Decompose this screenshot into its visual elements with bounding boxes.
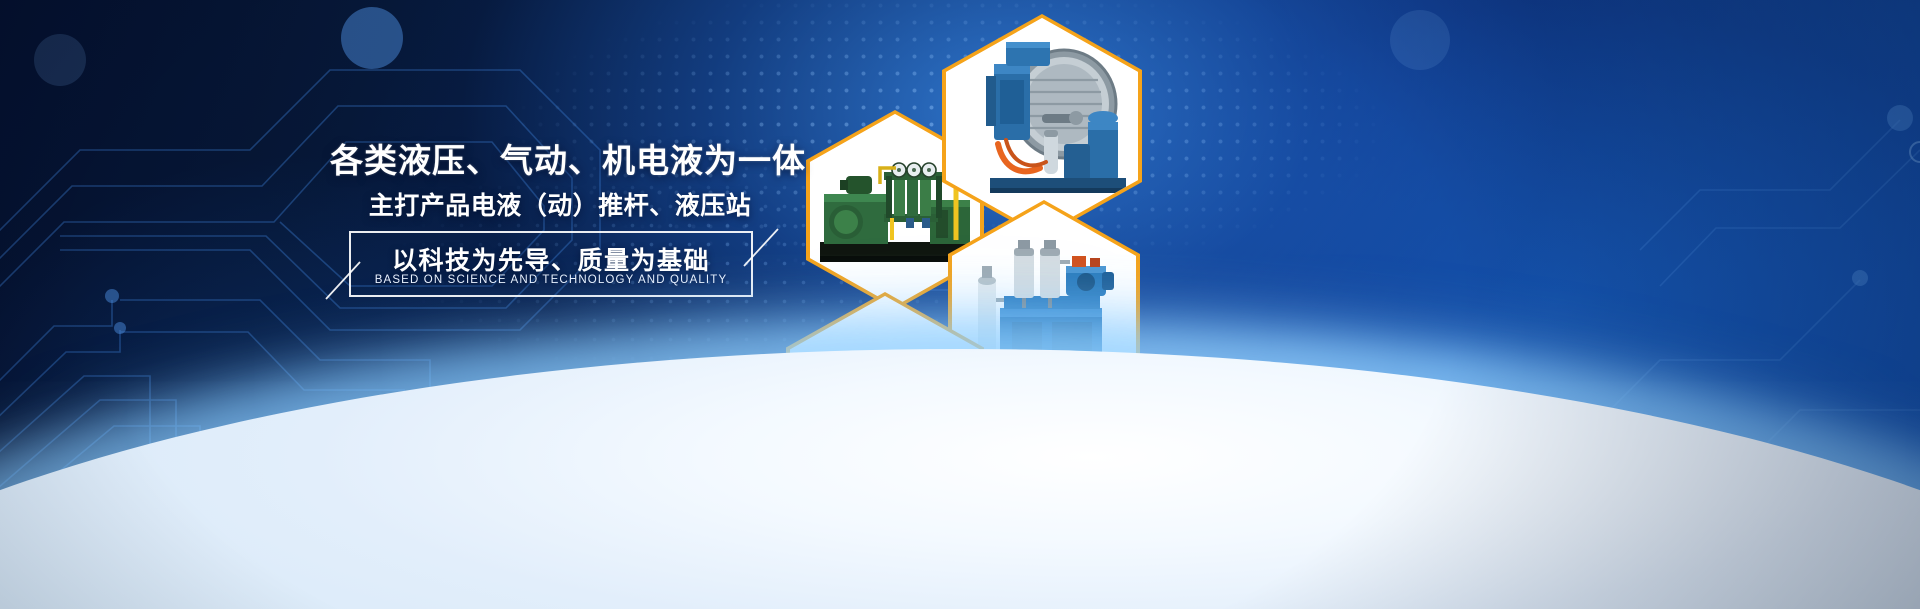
background-vignette xyxy=(0,0,1920,609)
hero-banner: 各类液压、气动、机电液为一体 主打产品电液（动）推杆、液压站 以科技为先导、质量… xyxy=(0,0,1920,609)
